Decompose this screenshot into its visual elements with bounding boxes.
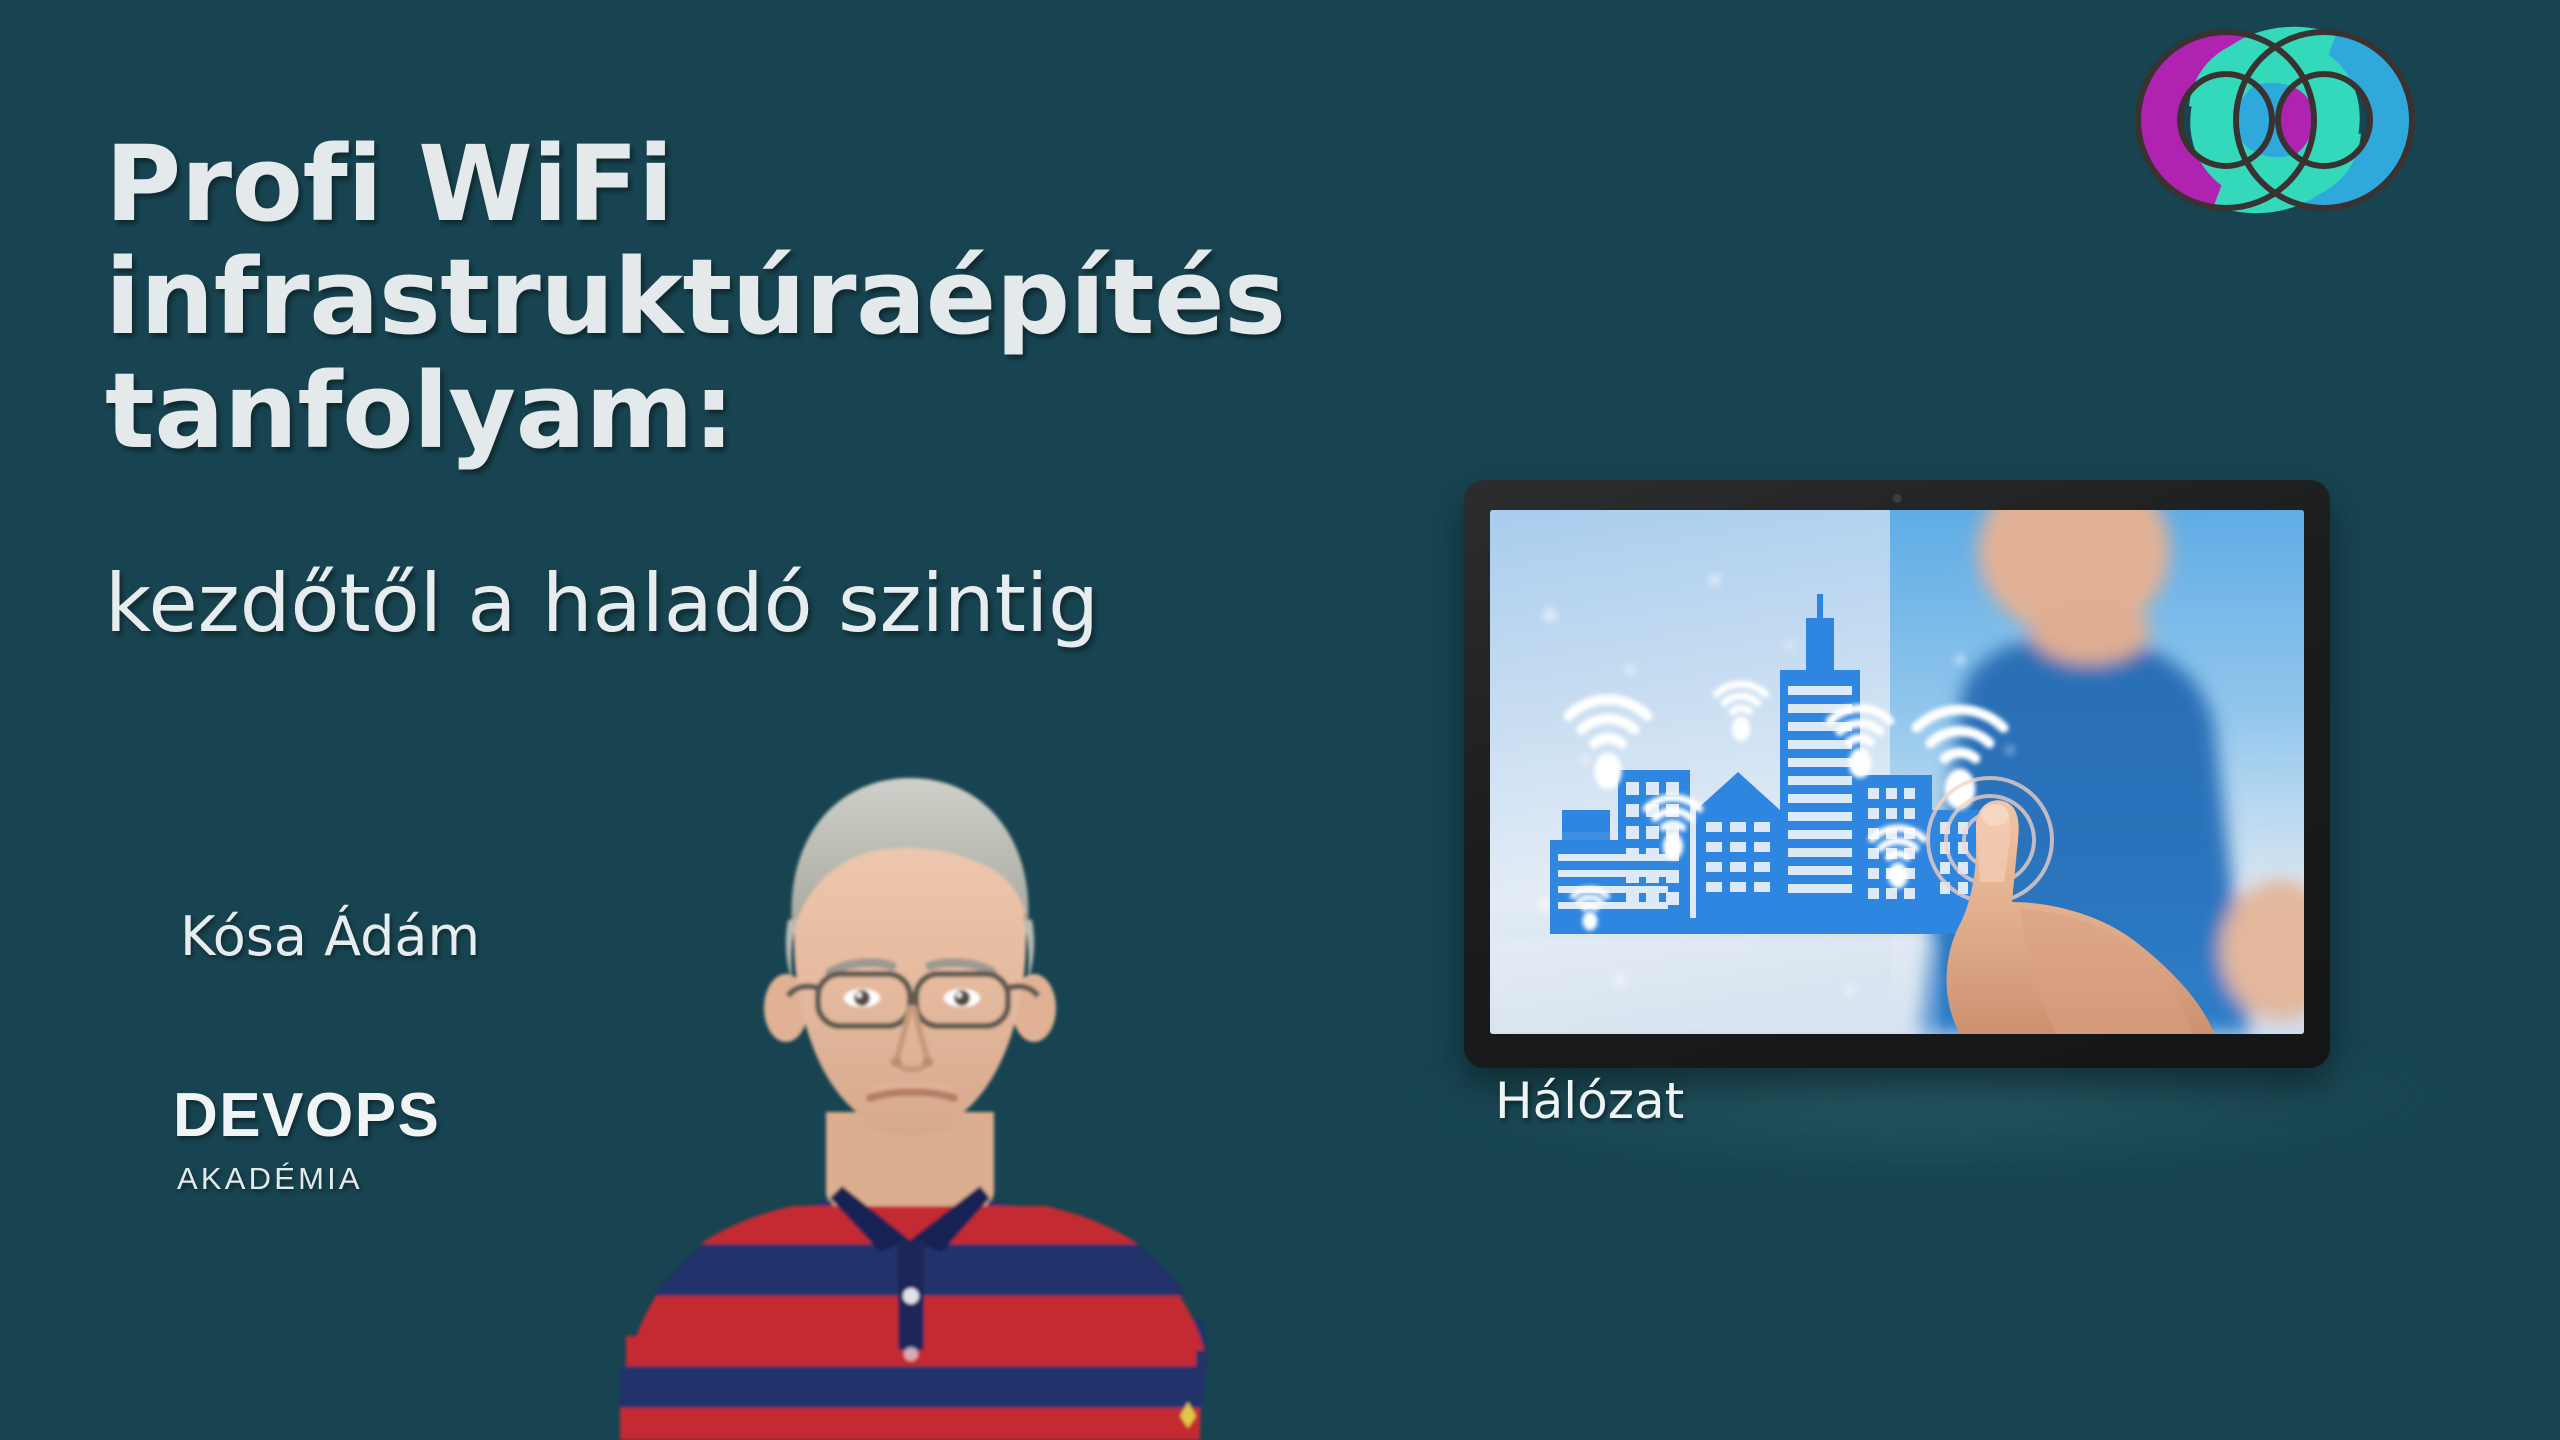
page-subtitle: kezdőtől a haladó szintig (105, 560, 1405, 648)
author-name: Kósa Ádám (180, 905, 480, 968)
rings-logo-icon (2130, 20, 2420, 220)
brand-name: DEVOPS (173, 1085, 440, 1147)
tablet-device (1464, 480, 2330, 1068)
tablet-caption: Hálózat (1495, 1072, 1684, 1130)
brand-tagline: AKADÉMIA (177, 1163, 440, 1194)
slide-canvas: Profi WiFi infrastruktúraépítés tanfolya… (0, 0, 2560, 1440)
presenter-video (580, 740, 1300, 1440)
page-title: Profi WiFi infrastruktúraépítés tanfolya… (105, 128, 1435, 468)
tablet-camera-icon (1893, 494, 1902, 503)
tablet-screen-image (1490, 510, 2304, 1034)
brand-logo: DEVOPS AKADÉMIA (173, 1085, 440, 1194)
